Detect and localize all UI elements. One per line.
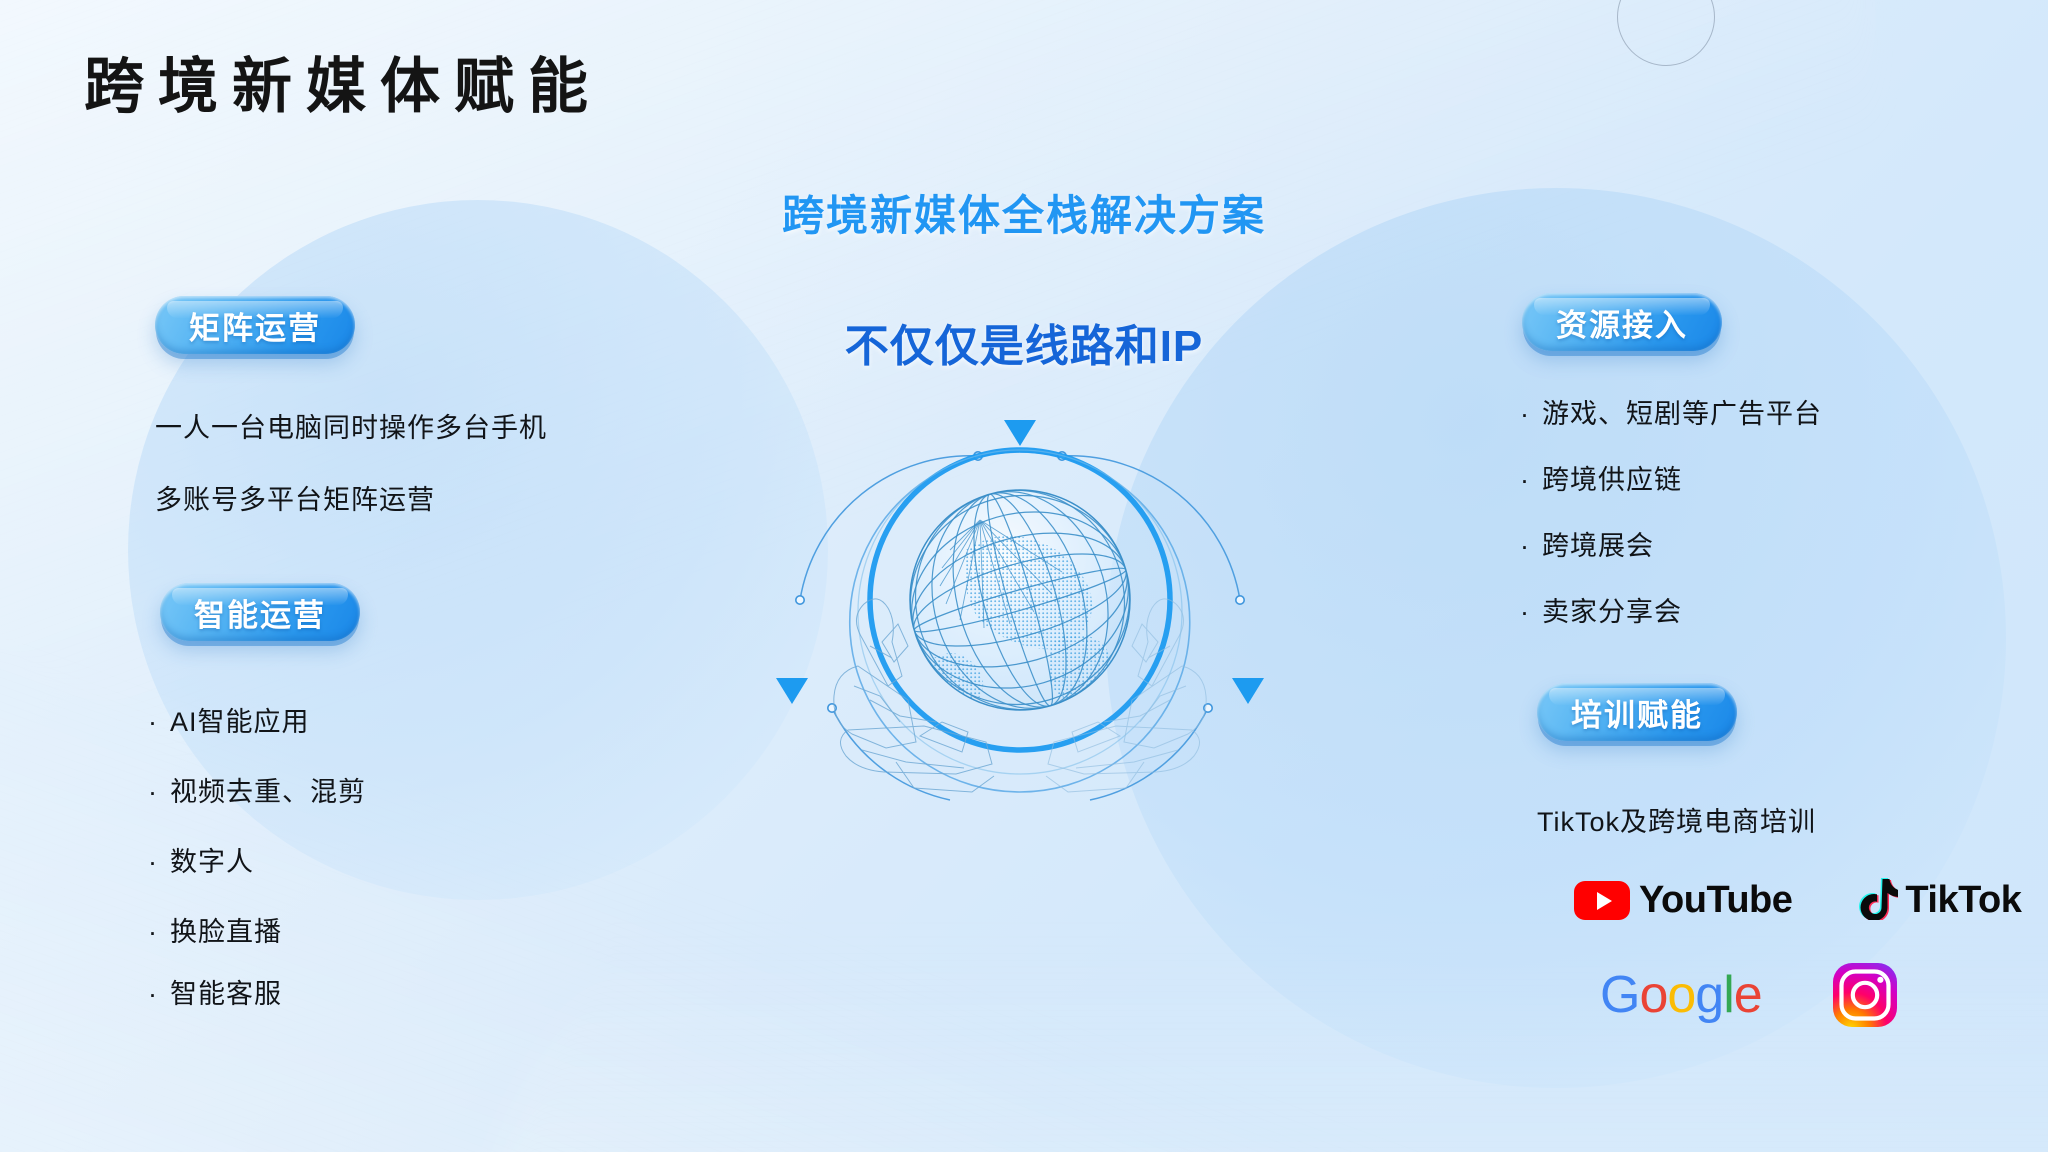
- right-bullet-item-3: ·跨境展会: [1520, 524, 1654, 563]
- wireframe-globe-icon: [886, 466, 1155, 735]
- bullet-marker-icon: ·: [148, 777, 158, 807]
- youtube-logo[interactable]: YouTube: [1574, 879, 1792, 922]
- bullet-marker-icon: ·: [1520, 531, 1530, 561]
- left-bullet-label-4: 换脸直播: [170, 917, 282, 947]
- google-letter-g1: G: [1600, 966, 1639, 1024]
- left-bullet-label-3: 数字人: [170, 847, 254, 877]
- right-bullet-label-4: 卖家分享会: [1542, 597, 1682, 627]
- right-bullet-label-2: 跨境供应链: [1542, 465, 1682, 495]
- bullet-marker-icon: ·: [148, 847, 158, 877]
- section-pill-resource-access[interactable]: 资源接入: [1522, 293, 1722, 351]
- google-letter-l: l: [1723, 966, 1734, 1024]
- left-bullet-item-5: ·智能客服: [148, 972, 282, 1011]
- google-letter-o1: o: [1639, 966, 1667, 1024]
- left-text-line-1: 一人一台电脑同时操作多台手机: [155, 406, 547, 445]
- brand-logo-row-bottom: Google: [1600, 962, 1898, 1028]
- bullet-marker-icon: ·: [148, 707, 158, 737]
- bullet-marker-icon: ·: [148, 917, 158, 947]
- google-letter-e: e: [1734, 966, 1762, 1024]
- slide-canvas: 跨境新媒体赋能 跨境新媒体全栈解决方案 不仅仅是线路和IP: [0, 0, 2048, 1152]
- left-bullet-label-5: 智能客服: [170, 979, 282, 1009]
- section-pill-smart-operations[interactable]: 智能运营: [160, 583, 360, 641]
- right-bullet-label-1: 游戏、短剧等广告平台: [1542, 399, 1822, 429]
- right-bullet-item-2: ·跨境供应链: [1520, 458, 1682, 497]
- google-letter-o2: o: [1667, 966, 1695, 1024]
- tiktok-label: TikTok: [1905, 879, 2021, 922]
- left-bullet-label-2: 视频去重、混剪: [170, 777, 366, 807]
- bullet-marker-icon: ·: [1520, 597, 1530, 627]
- right-bullet-item-1: ·游戏、短剧等广告平台: [1520, 392, 1822, 431]
- google-logo[interactable]: Google: [1600, 965, 1762, 1025]
- page-title: 跨境新媒体赋能: [84, 38, 602, 125]
- bullet-marker-icon: ·: [148, 979, 158, 1009]
- left-bullet-item-2: ·视频去重、混剪: [148, 770, 366, 809]
- bullet-marker-icon: ·: [1520, 399, 1530, 429]
- center-heading-primary: 跨境新媒体全栈解决方案: [0, 182, 2048, 243]
- right-text-line-1: TikTok及跨境电商培训: [1537, 800, 1816, 839]
- left-bullet-label-1: AI智能应用: [170, 707, 310, 737]
- google-letter-g2: g: [1695, 966, 1723, 1024]
- right-bullet-label-3: 跨境展会: [1542, 531, 1654, 561]
- right-bullet-item-4: ·卖家分享会: [1520, 590, 1682, 629]
- left-bullet-item-4: ·换脸直播: [148, 910, 282, 949]
- globe-illustration: [770, 400, 1270, 880]
- youtube-play-icon: [1574, 881, 1630, 920]
- section-pill-training-empowerment[interactable]: 培训赋能: [1537, 683, 1737, 741]
- left-bullet-item-1: ·AI智能应用: [148, 700, 310, 739]
- section-pill-matrix-operations[interactable]: 矩阵运营: [155, 296, 355, 354]
- instagram-logo[interactable]: [1832, 962, 1898, 1028]
- tiktok-note-icon: [1858, 876, 1898, 925]
- left-bullet-item-3: ·数字人: [148, 840, 254, 879]
- bullet-marker-icon: ·: [1520, 465, 1530, 495]
- tiktok-logo[interactable]: TikTok: [1858, 876, 2021, 925]
- youtube-label: YouTube: [1639, 879, 1792, 922]
- left-text-line-2: 多账号多平台矩阵运营: [155, 478, 435, 517]
- brand-logo-row-top: YouTube TikTok: [1574, 876, 2021, 925]
